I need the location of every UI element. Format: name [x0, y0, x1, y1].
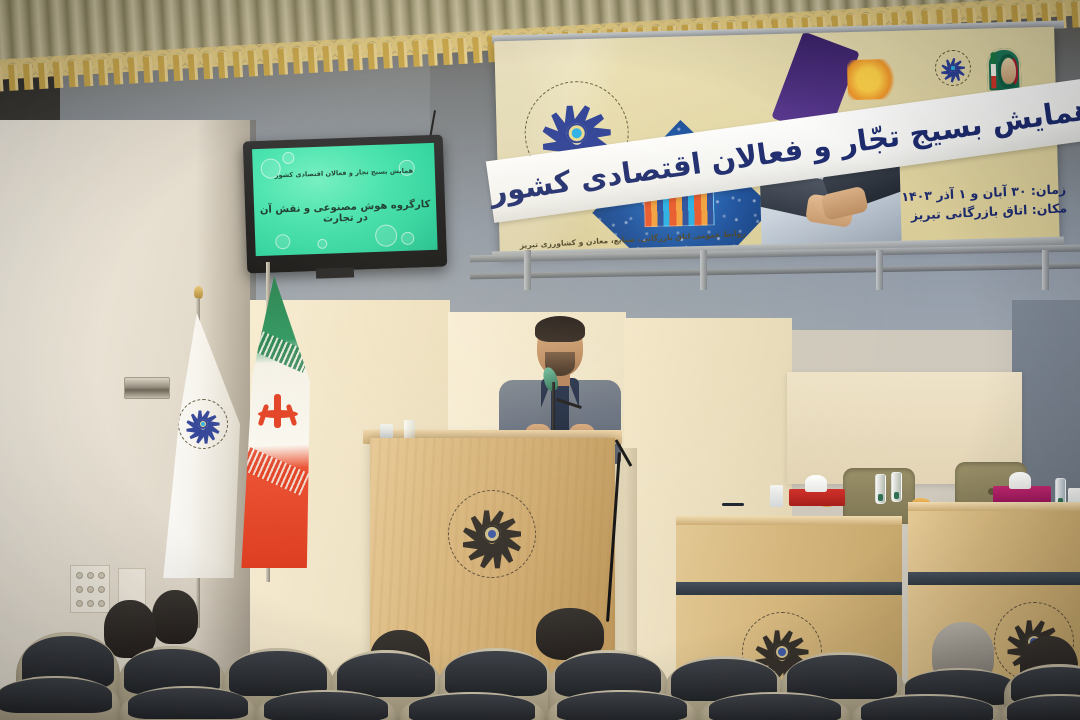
rail-post-1	[524, 250, 531, 290]
slide-title: کارگروه هوش مصنوعی و نقش آن در تجارت	[254, 199, 437, 227]
banner-title-layer: همایش بسیج تجّار و فعالان اقتصادی کشور ز…	[494, 26, 1079, 256]
audience-seat-front-3-headrest	[264, 692, 387, 720]
podium-logo-rosette	[460, 502, 523, 565]
audience-head-1	[152, 590, 198, 644]
audience-seat-front-1-headrest	[0, 678, 112, 713]
tissue-puff-right	[1009, 472, 1031, 489]
rail-post-4	[1042, 250, 1049, 290]
audience-seat-front-5-headrest	[557, 692, 687, 720]
chamber-flag-logo	[178, 399, 228, 449]
wall-outlet-plate	[70, 565, 110, 613]
chamber-flag-rosette	[185, 406, 221, 442]
audience-seat-front-7-headrest	[861, 696, 993, 720]
podium-chamber-logo	[448, 490, 536, 578]
audience-seat-front-4-headrest	[409, 694, 536, 720]
audience-seat-8-headrest	[787, 655, 896, 699]
audience-seat-front-6-headrest	[709, 694, 841, 720]
conference-hall-photo: روابط عمومی اتاق بازرگانی، صنایع، معادن …	[0, 0, 1080, 720]
tissue-box-red	[789, 489, 845, 506]
tissue-puff-left	[805, 475, 827, 492]
wall-mounted-tv: همایش بسیج تجار و فعالان اقتصادی کشور کا…	[243, 135, 447, 274]
tissue-box-magenta	[993, 486, 1051, 503]
audience-seat-front-2-headrest	[128, 688, 248, 719]
panel-desk-right-band	[908, 572, 1080, 585]
rail-post-3	[876, 250, 883, 290]
wall-vent	[124, 377, 170, 399]
rail-post-2	[700, 250, 707, 290]
panel-paper-cup-left	[770, 485, 783, 507]
chamber-flag-logo-core	[198, 419, 208, 429]
panel-desk-left-top	[676, 516, 902, 525]
panel-desk-right-top	[908, 502, 1080, 511]
speaker-hair	[535, 316, 585, 342]
tv-mount-bracket	[316, 267, 354, 278]
panel-left-logo-core	[774, 644, 790, 660]
panel-water-bottle-2	[891, 472, 902, 502]
podium-logo-core	[483, 525, 501, 543]
iran-flag-emblem	[258, 394, 298, 428]
banner-meta-block: زمان: ۳۰ آبان و ۱ آذر ۱۴۰۳ مکان: اتاق با…	[836, 179, 1068, 229]
panel-desk-left-band	[676, 582, 902, 595]
audience-seat-front-8-headrest	[1007, 696, 1080, 720]
tv-screen: همایش بسیج تجار و فعالان اقتصادی کشور کا…	[252, 143, 438, 256]
panel-pen-left	[722, 503, 744, 506]
audience-seat-5-headrest	[445, 651, 547, 696]
panel-water-bottle-1	[875, 474, 886, 504]
